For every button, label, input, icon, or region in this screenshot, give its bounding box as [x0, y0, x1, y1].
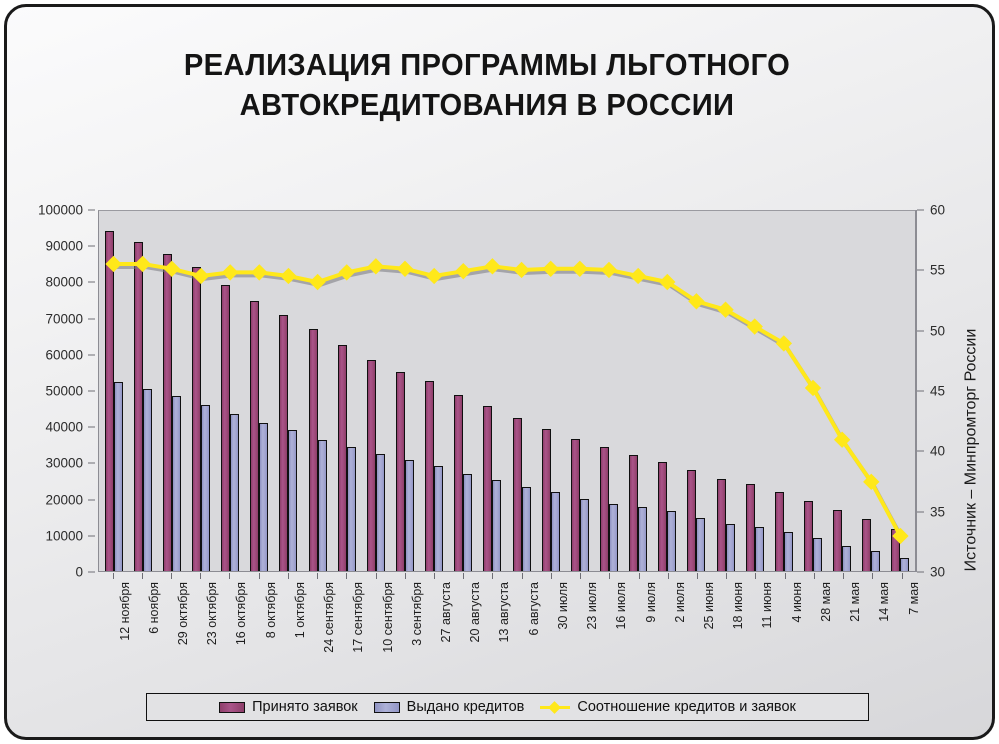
bar-applications: [746, 484, 755, 571]
bar-loans-issued: [551, 492, 560, 571]
y-axis-right-tick-mark: [917, 451, 924, 452]
x-axis-tick-mark: [492, 573, 493, 579]
y-axis-right-tick-label: 50: [930, 323, 945, 338]
x-axis-label-cell: 12 ноября: [98, 573, 127, 683]
x-axis-label-cell: 4 июня: [770, 573, 799, 683]
y-axis-left-tick-mark: [88, 499, 95, 500]
y-axis-left-tick-mark: [88, 354, 95, 355]
legend-item-label: Принято заявок: [252, 699, 358, 715]
bar-group: [303, 211, 332, 571]
y-axis-right-tick-label: 45: [930, 384, 945, 399]
bar-loans-issued: [580, 499, 589, 571]
y-axis-left-tick-label: 40000: [45, 420, 83, 435]
x-axis-tick-mark: [872, 573, 873, 579]
y-axis-left-tick-mark: [88, 463, 95, 464]
bar-group: [857, 211, 886, 571]
bar-group: [332, 211, 361, 571]
bar-loans-issued: [347, 447, 356, 571]
legend-item-label: Выдано кредитов: [407, 699, 525, 715]
bar-loans-issued: [259, 423, 268, 571]
x-axis-tick-mark: [405, 573, 406, 579]
x-axis-tick-mark: [902, 573, 903, 579]
bar-loans-issued: [522, 487, 531, 571]
bar-applications: [338, 345, 347, 571]
y-axis-right-tick-mark: [917, 210, 924, 211]
y-axis-left-tick-label: 30000: [45, 456, 83, 471]
bar-loans-issued: [492, 480, 501, 571]
bar-applications: [600, 447, 609, 571]
bar-loans-issued: [784, 532, 793, 571]
bar-group: [274, 211, 303, 571]
bar-loans-issued: [638, 507, 647, 571]
bar-applications: [542, 429, 551, 571]
x-axis-label-cell: 10 сентября: [361, 573, 390, 683]
x-axis-label-cell: 23 июля: [566, 573, 595, 683]
bar-group: [798, 211, 827, 571]
bar-group: [128, 211, 157, 571]
x-axis-label-cell: 17 сентября: [332, 573, 361, 683]
y-axis-right-tick-label: 60: [930, 203, 945, 218]
bar-group: [420, 211, 449, 571]
x-axis-tick-mark: [726, 573, 727, 579]
source-note: Источник – Минпромторг России: [954, 210, 988, 690]
bar-group: [245, 211, 274, 571]
page-title: РЕАЛИЗАЦИЯ ПРОГРАММЫ ЛЬГОТНОГО АВТОКРЕДИ…: [92, 45, 882, 124]
bar-loans-issued: [201, 405, 210, 571]
bar-applications: [629, 455, 638, 571]
x-axis-tick-mark: [288, 573, 289, 579]
y-axis-left-tick-mark: [88, 246, 95, 247]
bar-applications: [309, 329, 318, 571]
bar-group: [157, 211, 186, 571]
bar-group: [507, 211, 536, 571]
bar-applications: [483, 406, 492, 571]
x-axis-tick-mark: [522, 573, 523, 579]
x-axis-label-cell: 6 ноября: [127, 573, 156, 683]
page-title-line-1: РЕАЛИЗАЦИЯ ПРОГРАММЫ ЛЬГОТНОГО: [92, 45, 882, 85]
bar-loans-issued: [114, 382, 123, 571]
x-axis-label-cell: 1 октября: [273, 573, 302, 683]
bar-applications: [775, 492, 784, 571]
bar-group: [390, 211, 419, 571]
bar-loans-issued: [463, 474, 472, 571]
bar-group: [711, 211, 740, 571]
y-axis-left: 1000009000080000700006000050000400003000…: [7, 210, 95, 572]
bar-group: [99, 211, 128, 571]
source-note-text: Источник – Минпромторг России: [962, 329, 980, 572]
bar-applications: [833, 510, 842, 571]
x-axis-tick-mark: [142, 573, 143, 579]
y-axis-right-tick-mark: [917, 572, 924, 573]
legend-swatch-icon: [374, 702, 400, 713]
bar-applications: [250, 301, 259, 571]
bar-group: [653, 211, 682, 571]
bar-group: [361, 211, 390, 571]
y-axis-left-tick-label: 0: [75, 565, 83, 580]
x-axis-label-cell: 20 августа: [449, 573, 478, 683]
bar-applications: [862, 519, 871, 571]
bar-applications: [279, 315, 288, 571]
x-axis-label-cell: 16 октября: [215, 573, 244, 683]
x-axis-label-cell: 27 августа: [419, 573, 448, 683]
bar-group: [594, 211, 623, 571]
bar-loans-issued: [755, 527, 764, 571]
bar-applications: [134, 242, 143, 571]
bar-loans-issued: [288, 430, 297, 571]
x-axis-label-cell: 2 июля: [653, 573, 682, 683]
bar-loans-issued: [871, 551, 880, 571]
x-axis-label-cell: 21 мая: [828, 573, 857, 683]
x-axis-tick-mark: [346, 573, 347, 579]
bar-applications: [804, 501, 813, 571]
x-axis-tick-mark: [843, 573, 844, 579]
legend-item: Соотношение кредитов и заявок: [540, 699, 796, 715]
page-title-line-2: АВТОКРЕДИТОВАНИЯ В РОССИИ: [92, 85, 882, 125]
bar-applications: [454, 395, 463, 571]
x-axis-tick-mark: [259, 573, 260, 579]
legend-item-label: Соотношение кредитов и заявок: [577, 699, 796, 715]
x-axis-tick-mark: [200, 573, 201, 579]
y-axis-right-tick-label: 35: [930, 504, 945, 519]
x-axis-tick-mark: [609, 573, 610, 579]
x-axis-tick-mark: [376, 573, 377, 579]
bar-loans-issued: [667, 511, 676, 571]
x-axis-label-cell: 8 октября: [244, 573, 273, 683]
bar-applications: [367, 360, 376, 571]
x-axis-label-cell: 28 мая: [799, 573, 828, 683]
bar-group: [186, 211, 215, 571]
x-axis-label-cell: 18 июня: [712, 573, 741, 683]
bar-applications: [891, 529, 900, 571]
x-axis-label-cell: 9 июля: [624, 573, 653, 683]
y-axis-left-tick-label: 10000: [45, 528, 83, 543]
y-axis-right-tick-mark: [917, 391, 924, 392]
x-axis-tick-mark: [697, 573, 698, 579]
bar-loans-issued: [696, 518, 705, 571]
plot-area: [98, 210, 916, 572]
x-axis-tick-mark: [113, 573, 114, 579]
y-axis-left-tick-mark: [88, 535, 95, 536]
bar-loans-issued: [318, 440, 327, 571]
bar-loans-issued: [172, 396, 181, 571]
bar-group: [886, 211, 915, 571]
bar-applications: [163, 254, 172, 571]
legend-swatch-icon: [219, 702, 245, 713]
bar-loans-issued: [726, 524, 735, 571]
y-axis-left-tick-label: 100000: [38, 203, 83, 218]
bar-applications: [717, 479, 726, 571]
x-axis-tick-mark: [463, 573, 464, 579]
bar-loans-issued: [813, 538, 822, 571]
x-axis-label-cell: 16 июля: [595, 573, 624, 683]
bar-group: [216, 211, 245, 571]
x-axis-label-cell: 29 октября: [156, 573, 185, 683]
bar-group: [740, 211, 769, 571]
bar-applications: [513, 418, 522, 571]
x-axis-tick-mark: [434, 573, 435, 579]
bar-applications: [396, 372, 405, 571]
bar-loans-issued: [434, 466, 443, 571]
bar-applications: [221, 285, 230, 571]
legend-item: Выдано кредитов: [374, 699, 525, 715]
x-axis-label-cell: 30 июля: [536, 573, 565, 683]
poster-frame: РЕАЛИЗАЦИЯ ПРОГРАММЫ ЛЬГОТНОГО АВТОКРЕДИ…: [4, 4, 995, 740]
y-axis-left-tick-mark: [88, 427, 95, 428]
y-axis-left-tick-label: 80000: [45, 275, 83, 290]
bar-applications: [425, 381, 434, 571]
bar-loans-issued: [609, 504, 618, 571]
bar-loans-issued: [143, 389, 152, 571]
bar-group: [565, 211, 594, 571]
y-axis-left-tick-label: 60000: [45, 347, 83, 362]
y-axis-left-tick-label: 50000: [45, 384, 83, 399]
bar-group: [536, 211, 565, 571]
bar-loans-issued: [376, 454, 385, 571]
bar-applications: [658, 462, 667, 571]
y-axis-left-tick-mark: [88, 572, 95, 573]
bar-loans-issued: [842, 546, 851, 571]
bar-series-container: [99, 211, 915, 571]
bar-group: [624, 211, 653, 571]
bar-applications: [571, 439, 580, 571]
x-axis-tick-mark: [551, 573, 552, 579]
x-axis-tick-mark: [639, 573, 640, 579]
y-axis-left-tick-mark: [88, 391, 95, 392]
legend-line-marker-icon: [540, 701, 570, 713]
x-axis-label-cell: 25 июня: [682, 573, 711, 683]
x-axis-tick-mark: [171, 573, 172, 579]
y-axis-left-tick-label: 90000: [45, 239, 83, 254]
x-axis-label-cell: 13 августа: [478, 573, 507, 683]
legend-item: Принято заявок: [219, 699, 358, 715]
x-axis-labels: 12 ноября6 ноября29 октября23 октября16 …: [98, 573, 916, 683]
bar-loans-issued: [230, 414, 239, 571]
x-axis-label-cell: 14 мая: [858, 573, 887, 683]
bar-applications: [105, 231, 114, 571]
bar-group: [828, 211, 857, 571]
y-axis-right-tick-mark: [917, 330, 924, 331]
x-axis-label-cell: 7 мая: [887, 573, 916, 683]
x-axis-tick-mark: [229, 573, 230, 579]
x-axis-label-cell: 6 августа: [507, 573, 536, 683]
x-axis-tick-mark: [755, 573, 756, 579]
x-axis-label-cell: 3 сентября: [390, 573, 419, 683]
y-axis-left-tick-mark: [88, 318, 95, 319]
x-axis-tick-mark: [814, 573, 815, 579]
y-axis-left-tick-label: 20000: [45, 492, 83, 507]
x-axis-tick-mark: [317, 573, 318, 579]
bar-group: [769, 211, 798, 571]
y-axis-left-tick-label: 70000: [45, 311, 83, 326]
x-axis-tick-mark: [580, 573, 581, 579]
x-axis-label-cell: 24 сентября: [303, 573, 332, 683]
x-axis-tick-label: 7 мая: [907, 582, 921, 615]
bar-loans-issued: [900, 558, 909, 571]
bar-loans-issued: [405, 460, 414, 571]
bar-group: [449, 211, 478, 571]
x-axis-tick-mark: [785, 573, 786, 579]
y-axis-left-tick-mark: [88, 210, 95, 211]
bar-applications: [687, 470, 696, 571]
y-axis-right-tick-label: 40: [930, 444, 945, 459]
x-axis-tick-mark: [668, 573, 669, 579]
y-axis-left-tick-mark: [88, 282, 95, 283]
x-axis-label-cell: 23 октября: [186, 573, 215, 683]
chart-legend: Принято заявокВыдано кредитовСоотношение…: [146, 693, 869, 721]
bar-group: [682, 211, 711, 571]
bar-applications: [192, 267, 201, 571]
x-axis-label-cell: 11 июня: [741, 573, 770, 683]
bar-group: [478, 211, 507, 571]
y-axis-right-tick-label: 30: [930, 565, 945, 580]
y-axis-right-tick-mark: [917, 270, 924, 271]
y-axis-right-tick-label: 55: [930, 263, 945, 278]
y-axis-right-tick-mark: [917, 511, 924, 512]
